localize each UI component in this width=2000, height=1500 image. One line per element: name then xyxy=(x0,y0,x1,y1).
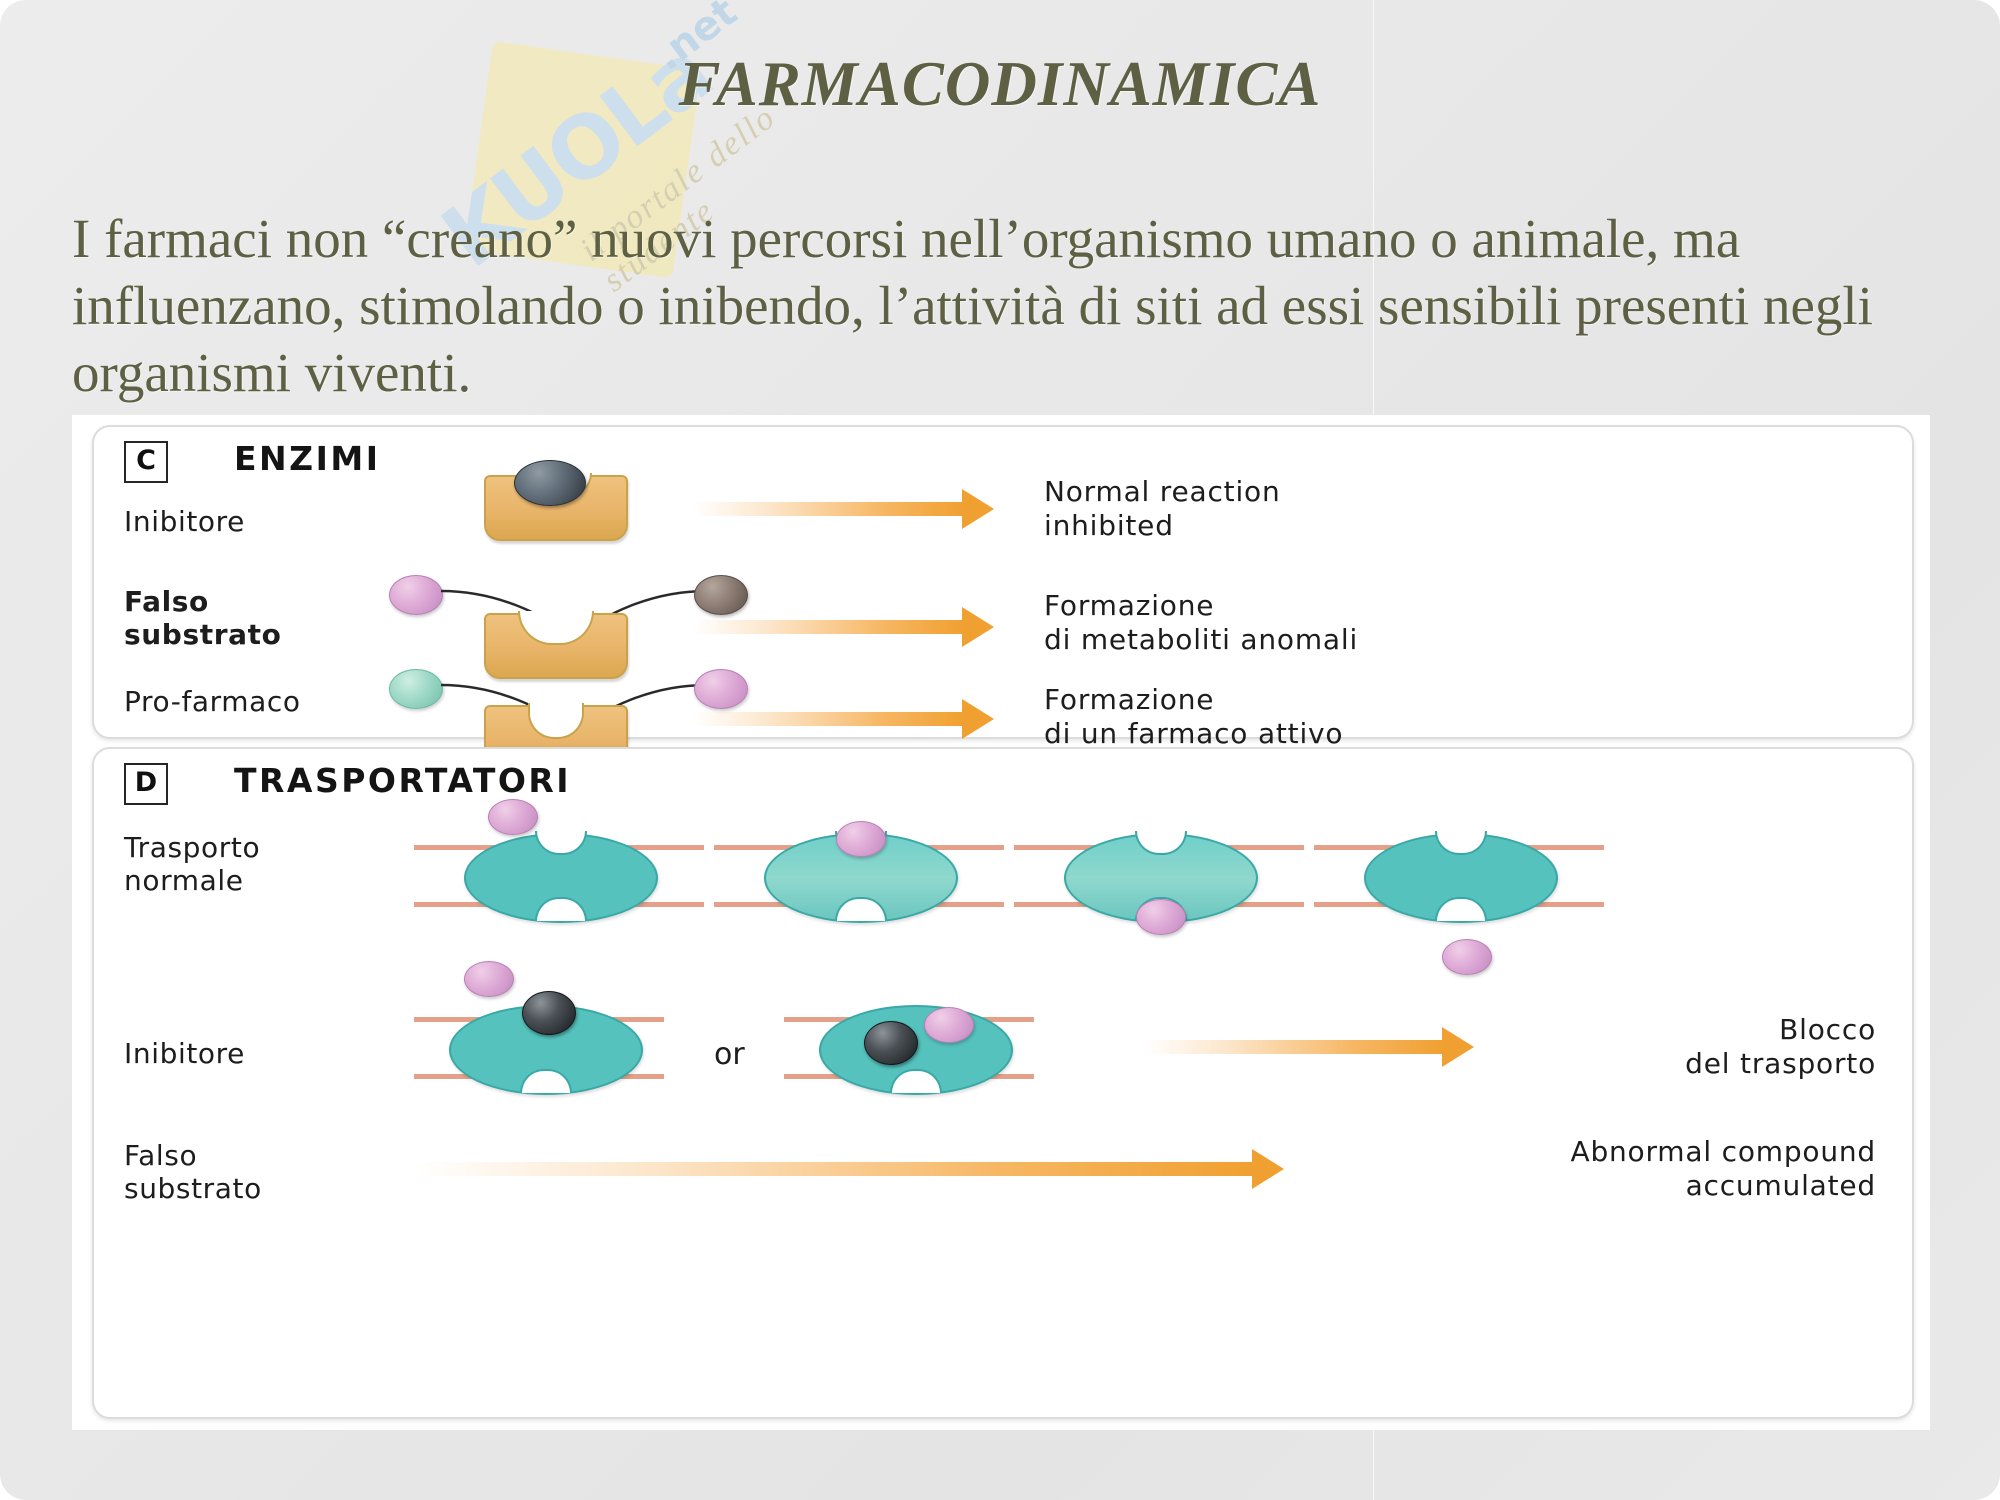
panel-d-row-1-outcome: Bloccodel trasporto xyxy=(1685,1013,1876,1080)
panel-c-row-1-outcome: Formazionedi metaboliti anomali xyxy=(1044,589,1358,656)
panel-c-row-2-outcome: Formazionedi un farmaco attivo xyxy=(1044,683,1343,750)
panel-d-row-2-label: Falsosubstrato xyxy=(124,1139,262,1205)
transporter-step-1 xyxy=(464,833,654,919)
inhibitor-icon-1 xyxy=(522,991,576,1035)
false-substrate-in-icon xyxy=(389,575,443,615)
substrate-icon-6 xyxy=(924,1007,974,1043)
substrate-icon-3 xyxy=(1136,899,1186,935)
slide-canvas: KUOLa .net il portale dello studente FAR… xyxy=(0,0,2000,1500)
panel-d-tag: D xyxy=(124,763,168,805)
panel-c-row-2-label: Pro-farmaco xyxy=(124,685,301,718)
panel-c-row-0-outcome: Normal reactioninhibited xyxy=(1044,475,1281,542)
transporter-step-4 xyxy=(1364,833,1554,919)
panel-d-arrow-1 xyxy=(1144,1027,1474,1067)
panel-d-row-1-label: Inibitore xyxy=(124,1037,245,1070)
panel-d-row-2-outcome: Abnormal compoundaccumulated xyxy=(1570,1135,1876,1202)
panel-c-arrow-2 xyxy=(694,699,994,739)
panel-c-row-1-label: Falsosubstrato xyxy=(124,585,281,651)
panel-c-heading: ENZIMI xyxy=(234,439,380,478)
substrate-icon-2 xyxy=(836,821,886,857)
substrate-icon-1 xyxy=(488,799,538,835)
panel-c-arrow-0 xyxy=(694,489,994,529)
panel-c-row-0-label: Inibitore xyxy=(124,505,245,538)
substrate-icon-5 xyxy=(464,961,514,997)
page-title: FARMACODINAMICA xyxy=(0,48,2000,121)
or-label: or xyxy=(714,1037,745,1072)
body-paragraph: I farmaci non “creano” nuovi percorsi ne… xyxy=(72,205,1952,406)
panel-d-row-0-label: Trasportonormale xyxy=(124,831,260,897)
panel-c-tag: C xyxy=(124,441,168,483)
figure-container: C ENZIMI Inibitore Normal reactioninhibi… xyxy=(72,415,1930,1430)
prodrug-molecule-icon xyxy=(389,669,443,709)
panel-c-arrow-1 xyxy=(694,607,994,647)
panel-trasportatori: D TRASPORTATORI Trasportonormale xyxy=(92,747,1914,1419)
substrate-icon-4 xyxy=(1442,939,1492,975)
enzyme-icon-false-substrate xyxy=(484,613,624,675)
panel-d-heading: TRASPORTATORI xyxy=(234,761,571,800)
inhibitor-icon-2 xyxy=(864,1021,918,1065)
panel-enzimi: C ENZIMI Inibitore Normal reactioninhibi… xyxy=(92,425,1914,739)
panel-d-arrow-2 xyxy=(414,1149,1284,1189)
inhibitor-molecule-icon xyxy=(514,460,586,506)
